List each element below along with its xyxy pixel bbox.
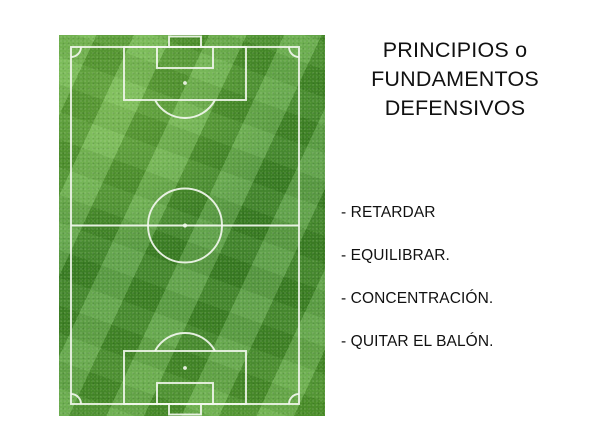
- top-goal-net: [169, 37, 201, 48]
- list-item: - RETARDAR: [341, 203, 596, 222]
- bottom-penalty-arc: [155, 333, 215, 351]
- top-penalty-area: [124, 47, 246, 100]
- soccer-field-image: [59, 35, 325, 416]
- list-item: - QUITAR EL BALÓN.: [341, 332, 596, 351]
- title-line-2: FUNDAMENTOS: [310, 65, 600, 94]
- slide-canvas: PRINCIPIOS o FUNDAMENTOS DEFENSIVOS - RE…: [0, 0, 600, 424]
- top-penalty-spot: [183, 81, 187, 85]
- title-line-3: DEFENSIVOS: [310, 94, 600, 123]
- bottom-penalty-spot: [183, 366, 187, 370]
- field-markings: [59, 35, 325, 416]
- corner-arc-top-right: [289, 47, 299, 57]
- bottom-penalty-area: [124, 351, 246, 404]
- text-column: PRINCIPIOS o FUNDAMENTOS DEFENSIVOS - RE…: [310, 0, 600, 424]
- bottom-goal-area: [157, 383, 213, 404]
- top-goal-area: [157, 47, 213, 68]
- title-line-1: PRINCIPIOS o: [310, 36, 600, 65]
- corner-arc-bottom-left: [71, 394, 81, 404]
- corner-arc-top-left: [71, 47, 81, 57]
- page-title: PRINCIPIOS o FUNDAMENTOS DEFENSIVOS: [310, 36, 600, 123]
- list-item: - EQUILIBRAR.: [341, 246, 596, 265]
- list-item: - CONCENTRACIÓN.: [341, 289, 596, 308]
- center-spot: [183, 223, 187, 227]
- bottom-goal-net: [169, 404, 201, 415]
- corner-arc-bottom-right: [289, 394, 299, 404]
- top-penalty-arc: [155, 100, 215, 118]
- principles-list: - RETARDAR - EQUILIBRAR. - CONCENTRACIÓN…: [341, 203, 596, 351]
